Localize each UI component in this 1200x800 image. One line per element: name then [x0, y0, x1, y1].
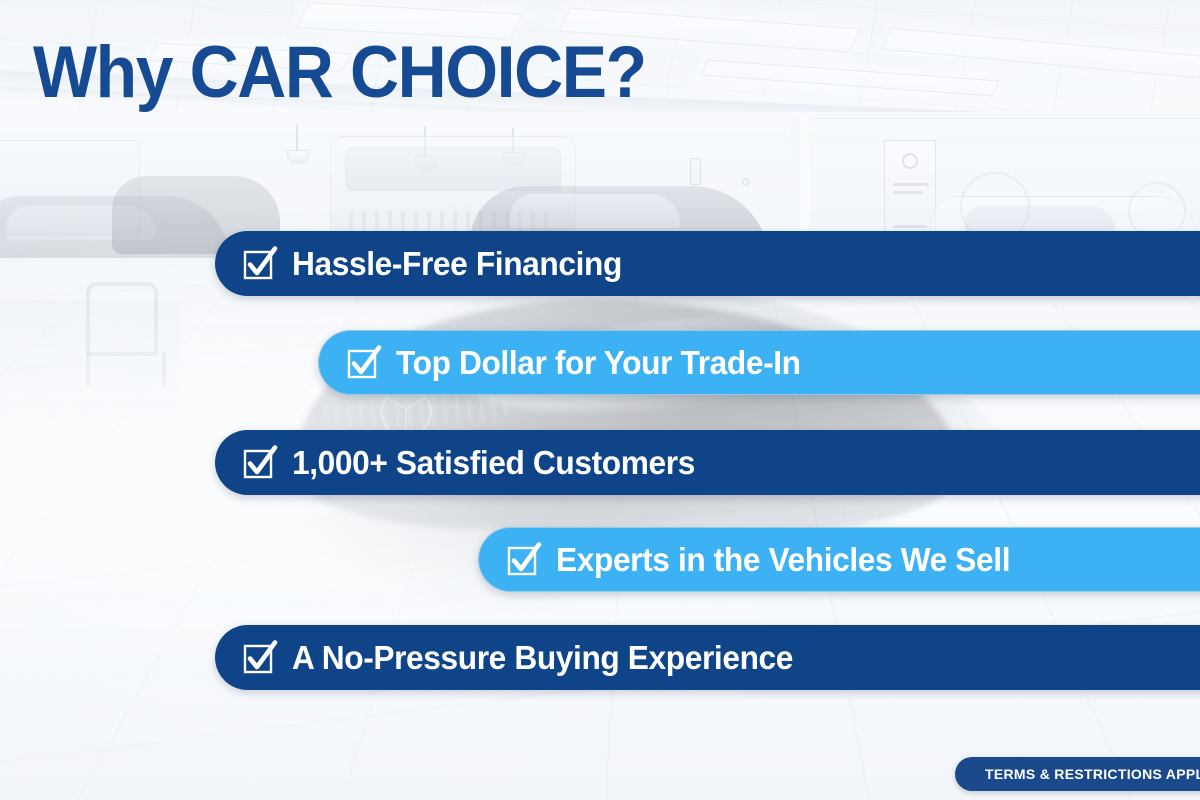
benefit-label: Top Dollar for Your Trade-In	[396, 346, 801, 379]
terms-badge-label: TERMS & RESTRICTIONS APPLY	[985, 766, 1200, 782]
checkbox-checked-icon	[243, 446, 276, 479]
poster-content: Why CAR CHOICE? Hassle-Free Financing To…	[0, 0, 1200, 800]
terms-badge[interactable]: TERMS & RESTRICTIONS APPLY	[955, 757, 1200, 791]
benefit-row-2[interactable]: Top Dollar for Your Trade-In	[318, 330, 1200, 395]
promo-poster: Why CAR CHOICE? Hassle-Free Financing To…	[0, 0, 1200, 800]
benefit-label: 1,000+ Satisfied Customers	[292, 446, 695, 479]
benefit-row-5[interactable]: A No-Pressure Buying Experience	[215, 625, 1200, 690]
page-title: Why CAR CHOICE?	[33, 36, 646, 109]
checkbox-checked-icon	[243, 247, 276, 280]
benefit-row-1[interactable]: Hassle-Free Financing	[215, 231, 1200, 296]
checkbox-checked-icon	[243, 641, 276, 674]
benefit-label: Experts in the Vehicles We Sell	[556, 543, 1010, 576]
benefit-row-4[interactable]: Experts in the Vehicles We Sell	[478, 527, 1200, 592]
benefit-label: Hassle-Free Financing	[292, 247, 622, 280]
checkbox-checked-icon	[347, 346, 380, 379]
checkbox-checked-icon	[507, 543, 540, 576]
benefit-row-3[interactable]: 1,000+ Satisfied Customers	[215, 430, 1200, 495]
benefit-label: A No-Pressure Buying Experience	[292, 641, 793, 674]
